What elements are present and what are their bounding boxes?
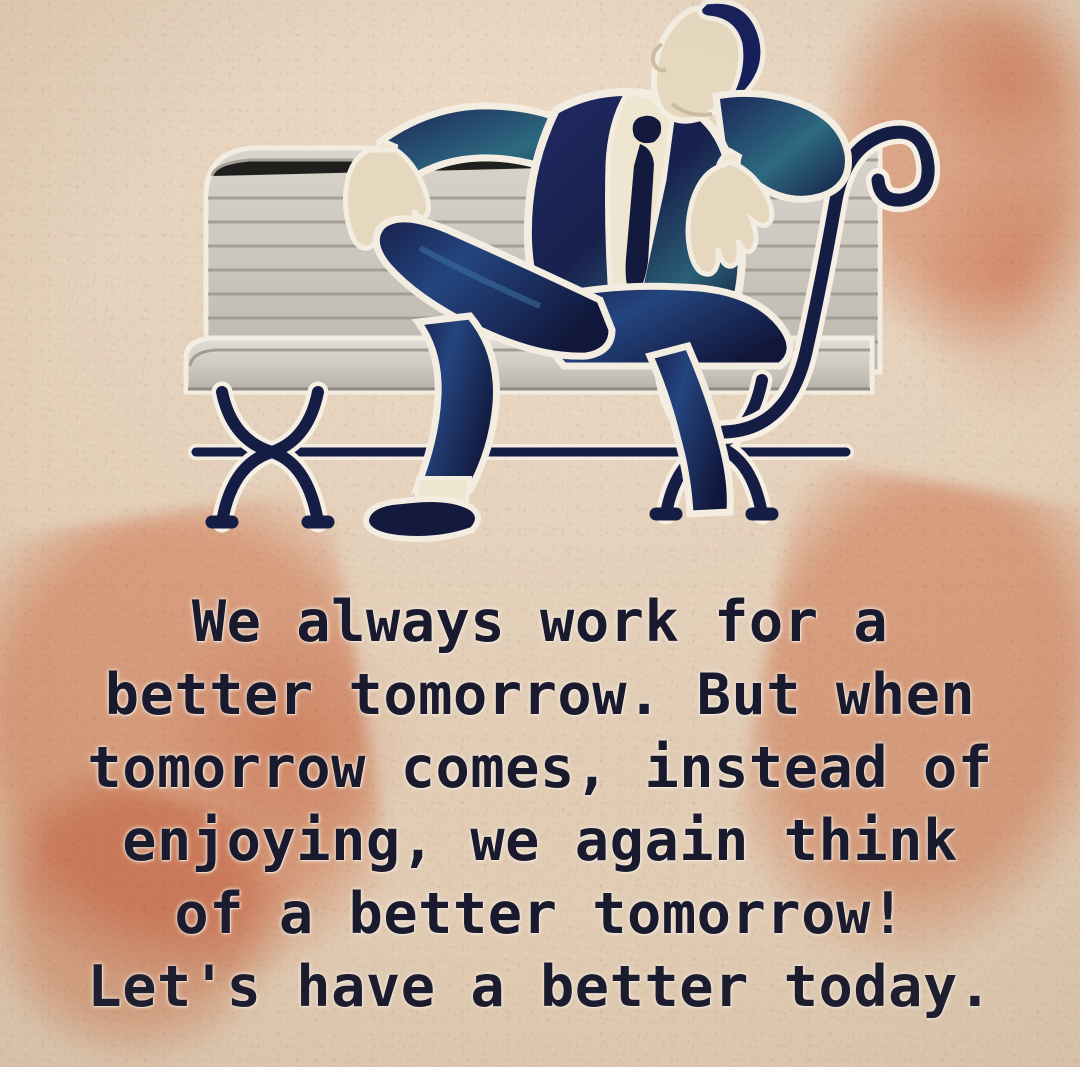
quote-line-6: Let's have a better today. (0, 951, 1080, 1024)
quote-line-5: of a better tomorrow! (0, 878, 1080, 951)
quote-line-4: enjoying, we again think (0, 805, 1080, 878)
quote-line-2: better tomorrow. But when (0, 659, 1080, 732)
quote-text-block: We always work for a better tomorrow. Bu… (0, 586, 1080, 1024)
quote-poster: We always work for a better tomorrow. Bu… (0, 0, 1080, 1067)
quote-line-3: tomorrow comes, instead of (0, 732, 1080, 805)
bench-illustration (0, 0, 1080, 580)
quote-line-1: We always work for a (0, 586, 1080, 659)
